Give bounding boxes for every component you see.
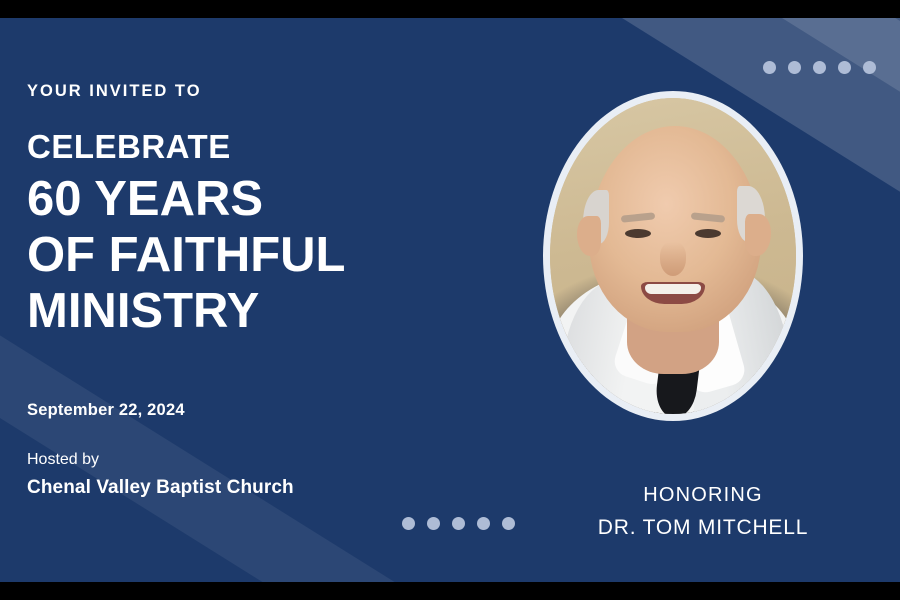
portrait (543, 91, 803, 421)
headline-line-2: 60 YEARS (27, 175, 457, 224)
headline-line-1: CELEBRATE (27, 130, 457, 163)
invitation-text-block: YOUR INVITED TO CELEBRATE 60 YEARS OF FA… (27, 18, 467, 582)
invite-kicker: YOUR INVITED TO (27, 82, 202, 101)
host-name: Chenal Valley Baptist Church (27, 477, 294, 499)
dot (863, 61, 876, 74)
eye-left (625, 229, 651, 238)
portrait-frame (543, 91, 803, 421)
eye-right (695, 229, 721, 238)
dot (502, 517, 515, 530)
dot (763, 61, 776, 74)
dot (788, 61, 801, 74)
hosted-by-label: Hosted by (27, 451, 99, 469)
teeth (645, 284, 701, 294)
ear-left (577, 216, 601, 256)
honoree-name: DR. TOM MITCHELL (543, 516, 863, 540)
dot (813, 61, 826, 74)
dot-row-top (763, 61, 876, 74)
headline-group: CELEBRATE 60 YEARS OF FAITHFUL MINISTRY (27, 130, 457, 343)
invitation-card: YOUR INVITED TO CELEBRATE 60 YEARS OF FA… (0, 18, 900, 582)
honoring-block: HONORING DR. TOM MITCHELL (543, 484, 863, 540)
dot (477, 517, 490, 530)
nose (660, 242, 686, 276)
portrait-photo (550, 98, 796, 414)
dot (838, 61, 851, 74)
headline-line-4: MINISTRY (27, 287, 457, 336)
headline-line-3: OF FAITHFUL (27, 231, 457, 280)
event-date: September 22, 2024 (27, 401, 185, 420)
honoring-label: HONORING (543, 484, 863, 507)
